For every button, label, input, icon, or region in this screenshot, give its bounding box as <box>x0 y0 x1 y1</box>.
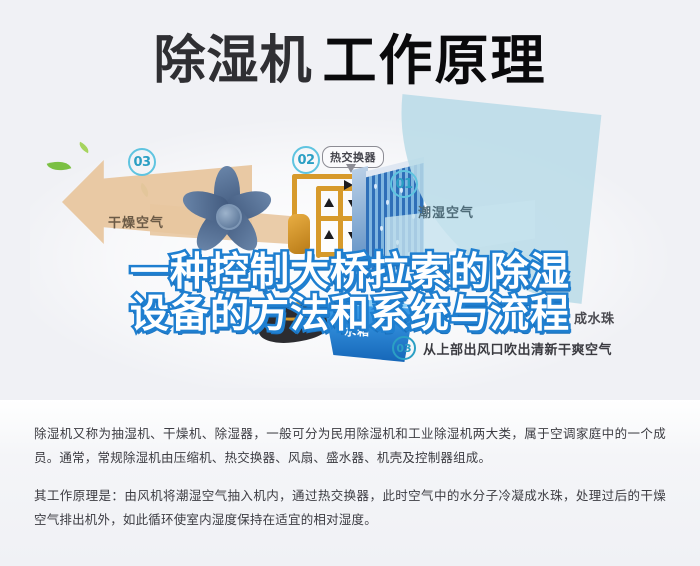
coil-pipe <box>316 186 321 258</box>
page-root: 除湿机 工作原理 干燥空气 03 02 热交换器 <box>0 0 700 566</box>
title-part-bold: 工作原理 <box>323 34 547 88</box>
step-badge-03-inline: 03 <box>392 336 416 360</box>
coil-pipe <box>338 186 343 258</box>
compressor-icon <box>288 214 310 254</box>
flow-arrow-up-icon <box>324 198 334 207</box>
title-part-light: 除湿机 <box>153 35 312 87</box>
body-paragraph-1: 除湿机又称为抽湿机、干燥机、除湿器，一般可分为民用除湿机和工业除湿机两大类，属于… <box>34 422 666 471</box>
fan-hub <box>216 204 242 230</box>
dry-air-label: 干燥空气 <box>108 212 164 231</box>
page-title: 除湿机 工作原理 <box>0 22 700 100</box>
caption-step3: 03 从上部出风口吹出清新干爽空气 <box>392 336 612 360</box>
body-copy-section: 除湿机又称为抽湿机、干燥机、除湿器，一般可分为民用除湿机和工业除湿机两大类，属于… <box>0 400 700 566</box>
caption-step2-fragment: 成水珠 <box>574 308 615 327</box>
caption-step3-text: 从上部出风口吹出清新干爽空气 <box>423 339 612 358</box>
dehumidifier-diagram: 干燥空气 03 02 热交换器 <box>0 108 700 398</box>
fan-icon <box>176 160 276 256</box>
water-tank-label: 水箱 <box>344 322 370 339</box>
step-badge-01: 01 <box>390 170 418 198</box>
step-badge-03: 03 <box>128 148 156 176</box>
flow-arrow-up-icon <box>324 230 334 239</box>
humid-air-label: 潮湿空气 <box>418 202 474 221</box>
body-paragraph-2: 其工作原理是：由风机将潮湿空气抽入机内，通过热交换器，此时空气中的水分子冷凝成水… <box>34 484 666 533</box>
